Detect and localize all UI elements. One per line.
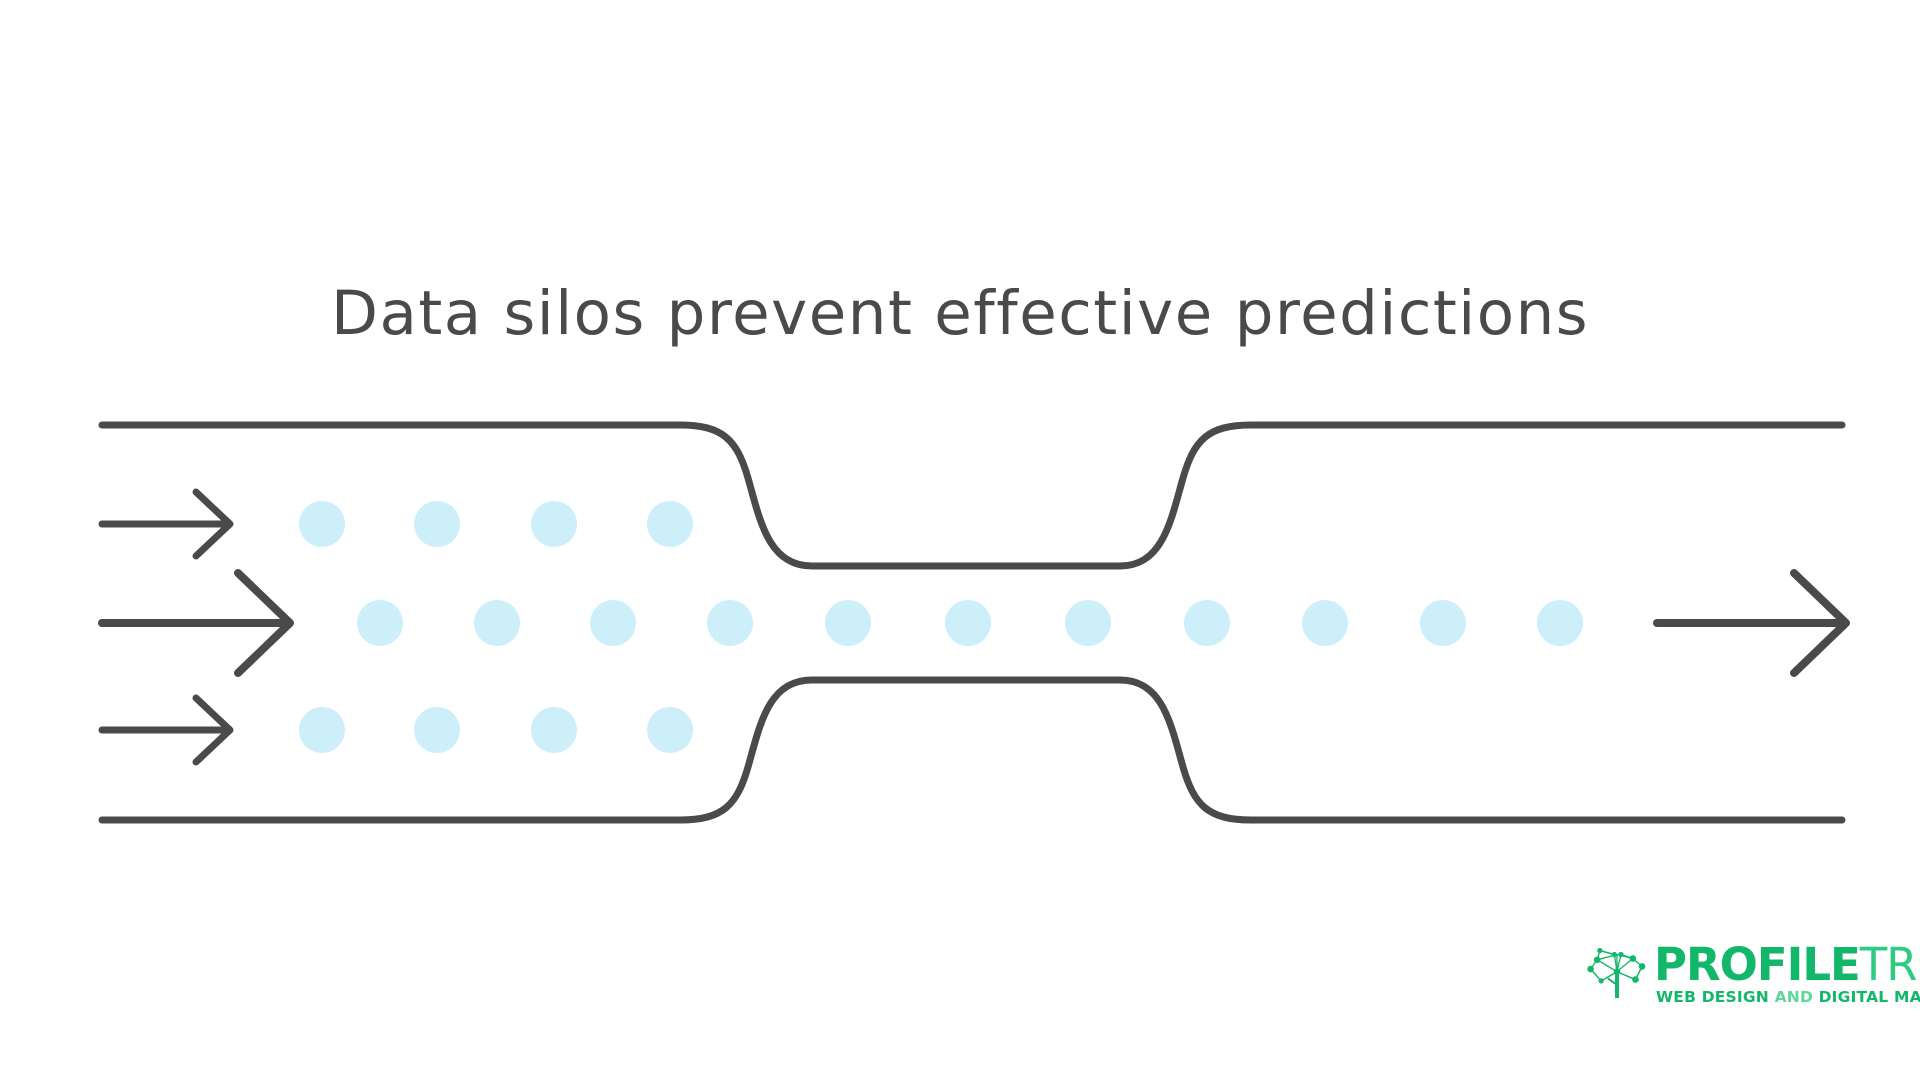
data-particle [1065,600,1111,646]
outflow-arrow [1657,573,1846,673]
data-particle [1302,600,1348,646]
data-particle [357,600,403,646]
data-particle [1184,600,1230,646]
particle-row-middle [357,600,1583,646]
logo-tagline: WEB DESIGN AND DIGITAL MARKETING [1656,988,1920,1006]
data-particle [414,501,460,547]
particle-row-top [299,501,693,547]
profiletree-logo[interactable]: PROFILETREE WEB DESIGN AND DIGITAL MARKE… [1584,938,1904,1018]
slide-canvas: Data silos prevent effective predictions [0,0,1920,1080]
tagline-part-3: DIGITAL MARKETING [1819,988,1920,1006]
data-particle [1537,600,1583,646]
pipe-upper-wall [102,425,1842,566]
pipe-lower-wall [102,680,1842,820]
data-particle [1420,600,1466,646]
logo-brand-secondary: TREE [1860,938,1920,991]
data-particle [531,501,577,547]
data-particle [299,501,345,547]
inflow-arrow-top [102,492,230,556]
network-tree-icon [1584,940,1650,1006]
data-particle [474,600,520,646]
logo-wordmark: PROFILETREE [1654,942,1920,988]
data-particle [647,707,693,753]
particle-row-bottom [299,707,693,753]
data-particle [647,501,693,547]
data-particle [590,600,636,646]
logo-brand-primary: PROFILE [1654,938,1860,991]
data-particle [414,707,460,753]
inflow-arrow-bottom [102,698,230,762]
data-particle [707,600,753,646]
bottleneck-diagram [0,0,1920,1080]
data-particle [825,600,871,646]
data-particle [945,600,991,646]
data-particle [531,707,577,753]
tagline-part-1: WEB DESIGN [1656,988,1775,1006]
inflow-arrow-middle [102,573,290,673]
tagline-part-2: AND [1775,988,1819,1006]
data-particle [299,707,345,753]
